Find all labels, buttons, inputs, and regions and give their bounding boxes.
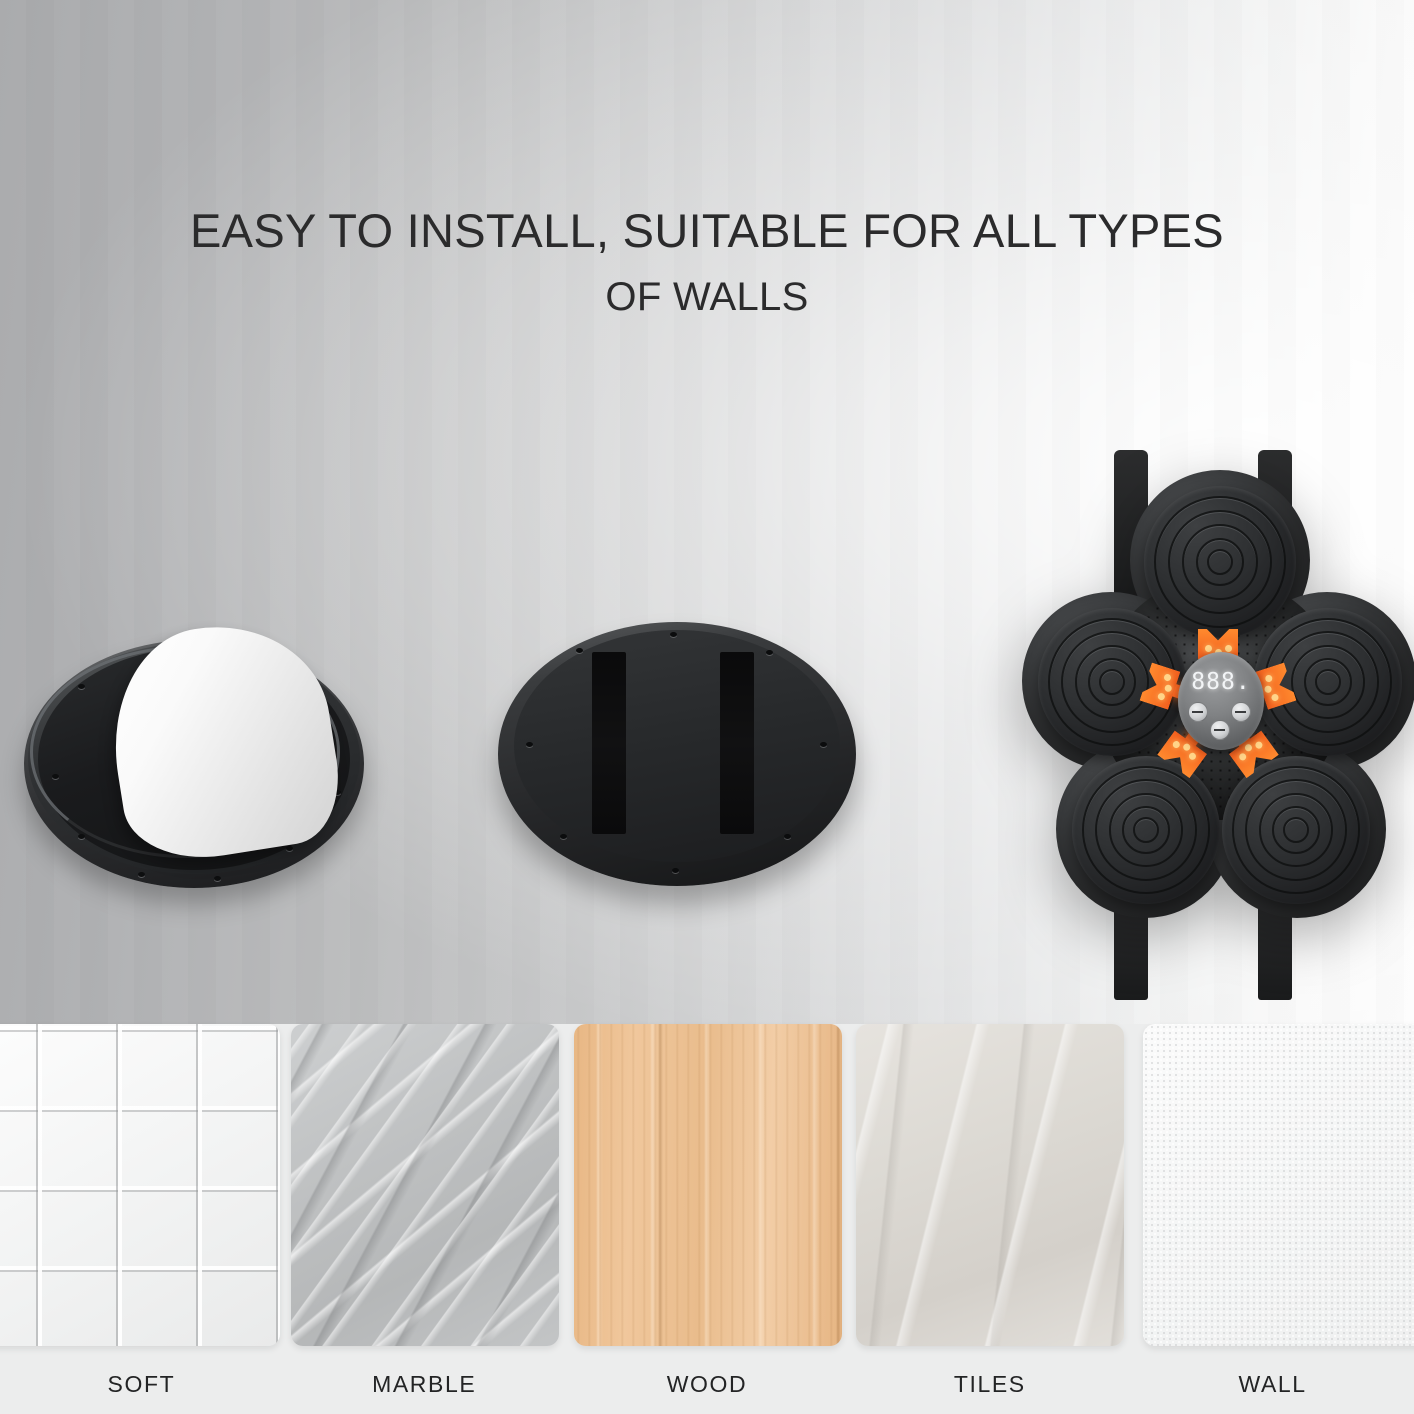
punch-target-bottom-right[interactable] [1222,756,1370,904]
swatch-label-marble: MARBLE [283,1354,566,1414]
punch-target-bottom-left[interactable] [1072,756,1220,904]
punch-target-top[interactable] [1144,486,1296,638]
disc-screw [784,834,791,839]
disc-screw [672,868,679,873]
hero-section: EASY TO INSTALL, SUITABLE FOR ALL TYPES … [0,0,1414,1024]
boxer-body: 888. [1022,470,1414,940]
product-slotted-mounting-disc [498,618,856,904]
swatch-cell-wall[interactable] [1131,1024,1414,1354]
swatch-label-soft: SOFT [0,1354,283,1414]
disc-screw [670,632,677,637]
disc-screw [138,872,145,877]
digital-display: 888. [1189,670,1253,694]
strap-slot [720,652,754,834]
page-title: EASY TO INSTALL, SUITABLE FOR ALL TYPES … [0,200,1414,326]
swatch-texture-soft [0,1024,280,1346]
control-button-right[interactable] [1231,702,1251,722]
product-music-boxing-machine: 888. [1022,444,1414,1004]
swatch-label-tiles: TILES [848,1354,1131,1414]
product-adhesive-mounting-disc [18,622,370,904]
swatch-label-wall: WALL [1131,1354,1414,1414]
headline-line-1: EASY TO INSTALL, SUITABLE FOR ALL TYPES [0,200,1414,262]
swatch-cell-tiles[interactable] [848,1024,1131,1354]
swatch-label-wood: WOOD [566,1354,849,1414]
swatch-texture-wall [1143,1024,1414,1346]
control-hub[interactable]: 888. [1178,652,1264,750]
strap-slot [592,652,626,834]
disc-screw [214,876,221,881]
swatch-label-row: SOFT MARBLE WOOD TILES WALL [0,1354,1414,1414]
disc-screw [766,650,773,655]
swatch-cell-marble[interactable] [283,1024,566,1354]
swatch-texture-wood [574,1024,842,1346]
swatch-texture-tiles [856,1024,1124,1346]
disc-screw [560,834,567,839]
product-feature-page: EASY TO INSTALL, SUITABLE FOR ALL TYPES … [0,0,1414,1414]
swatch-texture-marble [291,1024,559,1346]
disc-screw [78,684,85,689]
swatch-cell-soft[interactable] [0,1024,283,1354]
disc-screw [526,742,533,747]
disc-screw [576,648,583,653]
material-swatch-band: SOFT MARBLE WOOD TILES WALL [0,1024,1414,1414]
control-button-center[interactable] [1210,720,1230,740]
swatch-row [0,1024,1414,1354]
control-button-left[interactable] [1188,702,1208,722]
disc-screw [78,834,85,839]
disc-inner-face [514,630,840,862]
disc-screw [820,742,827,747]
disc-screw [52,774,59,779]
disc-screw [286,846,293,851]
swatch-cell-wood[interactable] [566,1024,849,1354]
headline-line-2: OF WALLS [0,268,1414,326]
